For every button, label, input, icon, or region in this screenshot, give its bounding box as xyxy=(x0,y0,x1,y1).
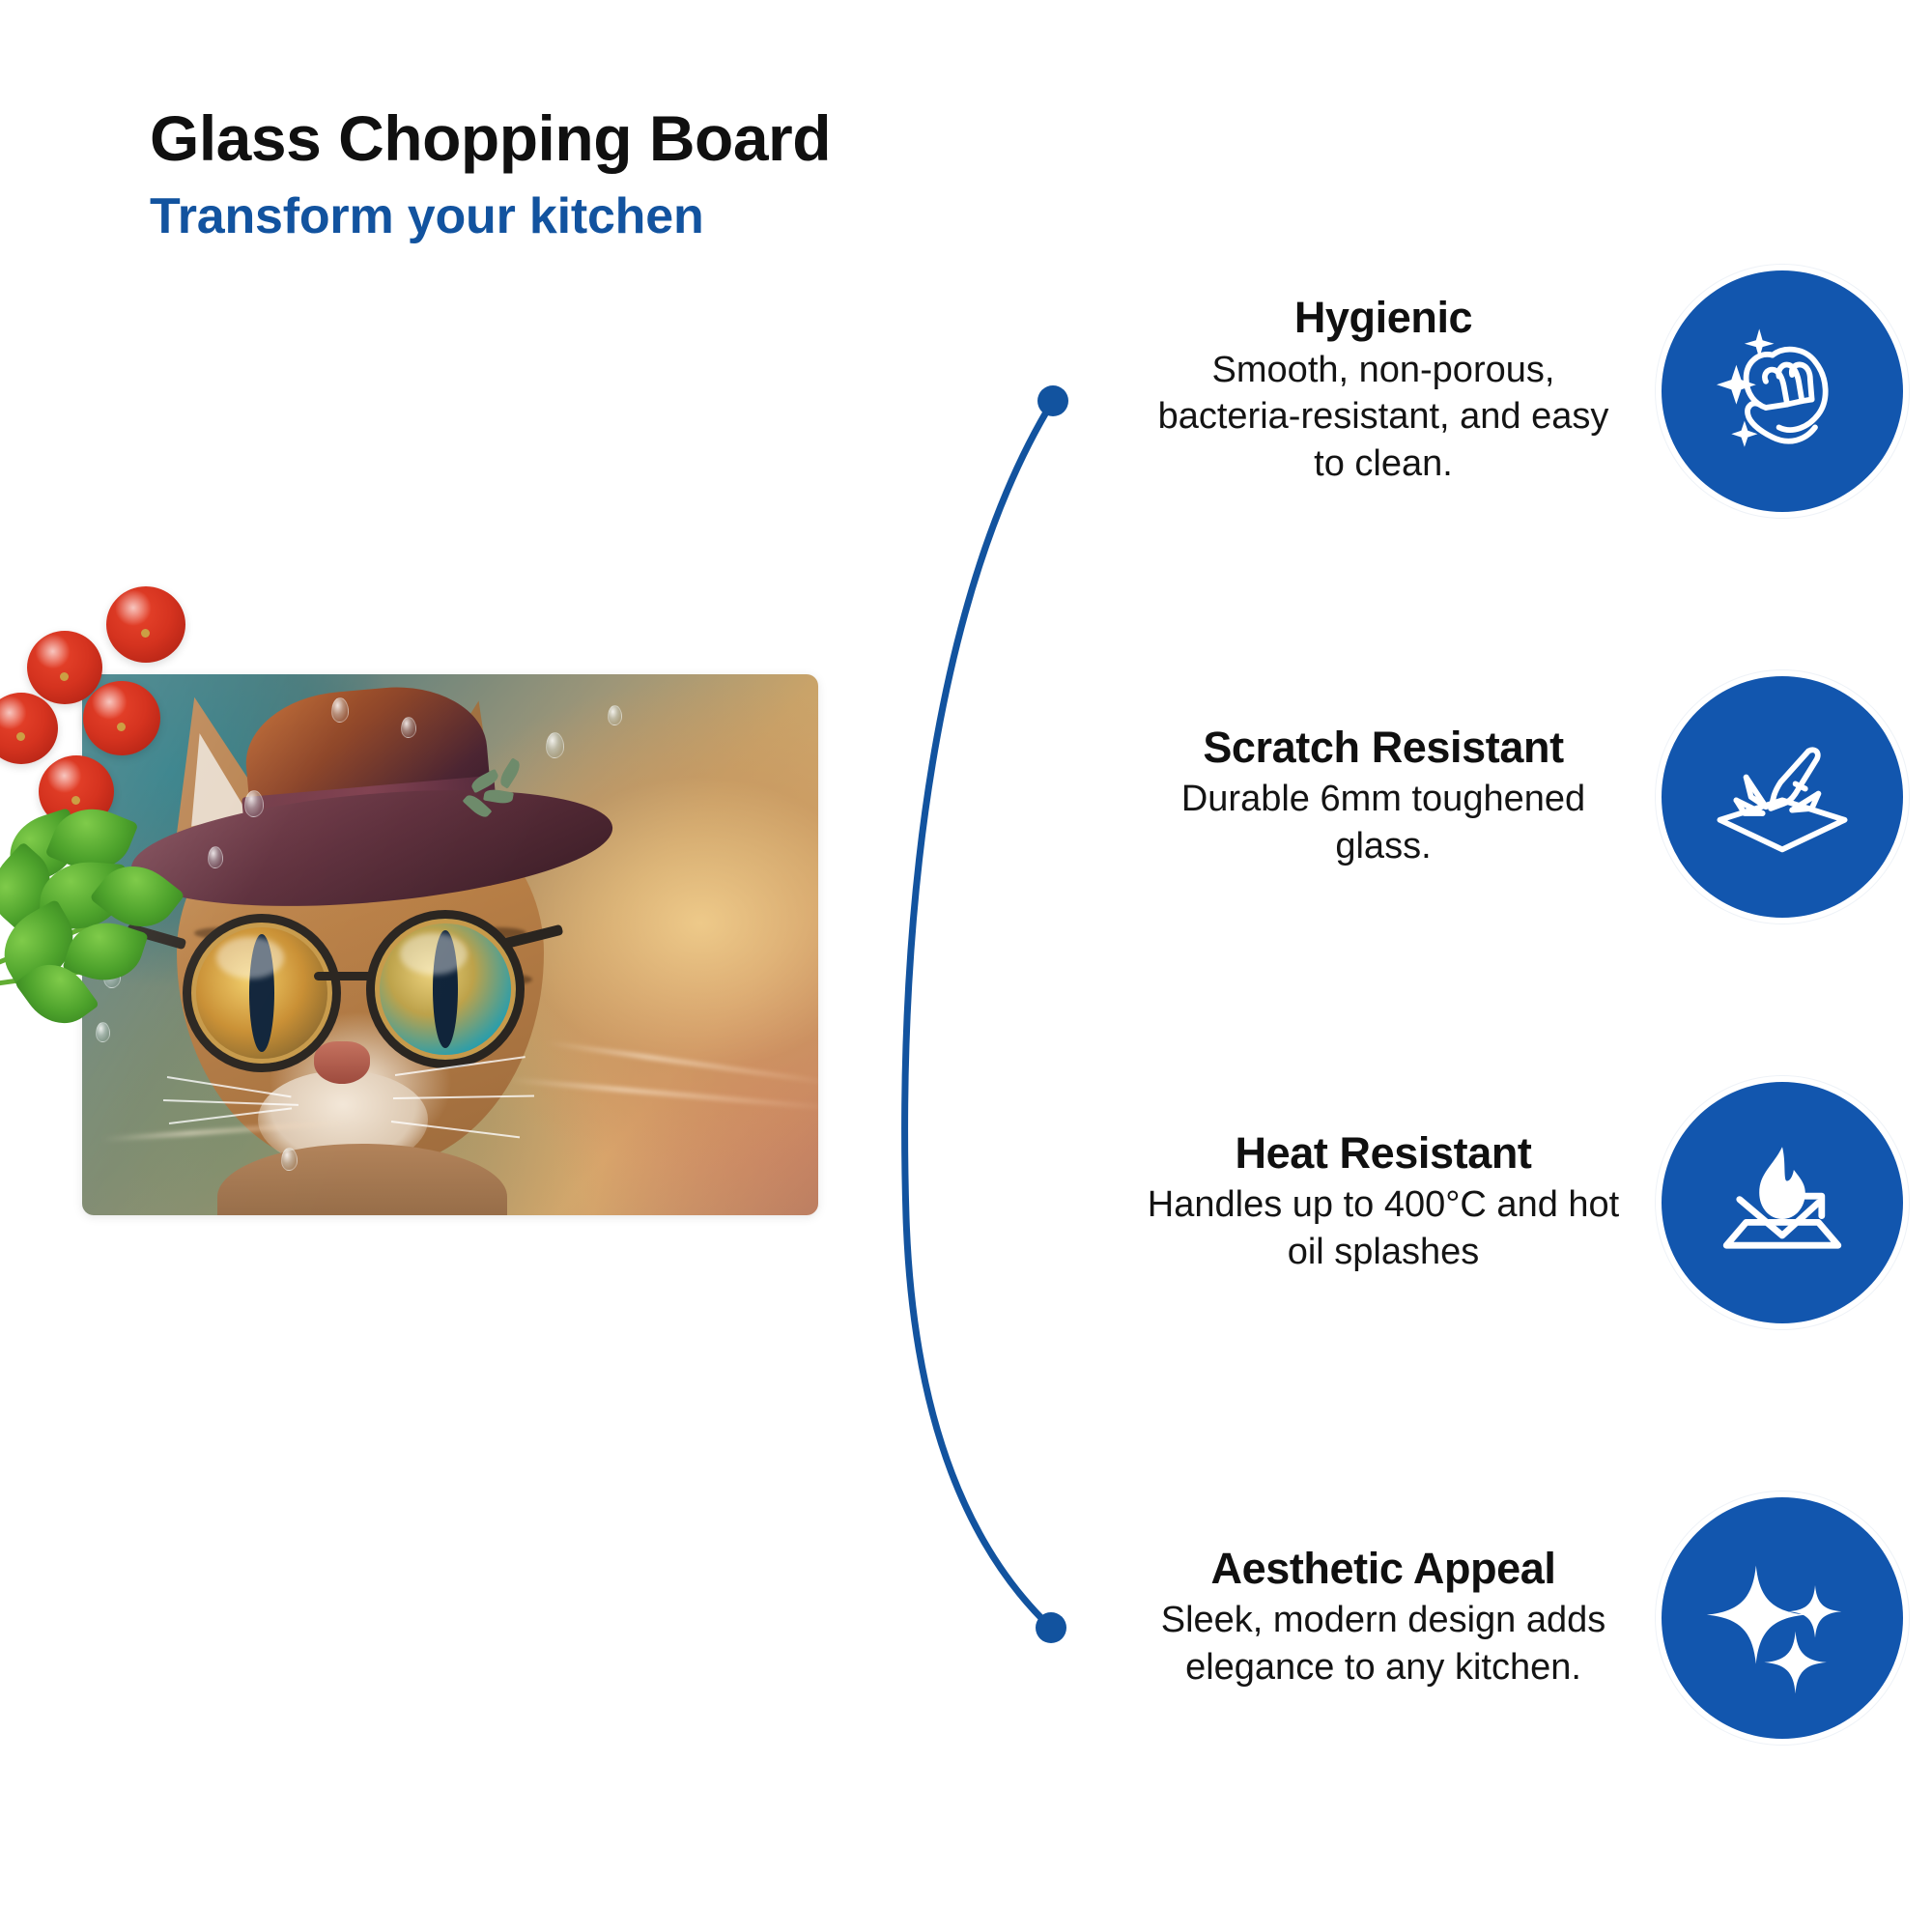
water-droplet xyxy=(96,1022,110,1042)
page-subtitle: Transform your kitchen xyxy=(150,191,1116,241)
hand-wiping-sparkle-icon[interactable] xyxy=(1662,270,1903,512)
feature-title: Aesthetic Appeal xyxy=(1142,1546,1625,1591)
feature-item-heat-resistant[interactable]: Heat Resistant Handles up to 400°C and h… xyxy=(1072,1082,1903,1323)
lens-glare xyxy=(400,933,468,976)
cat-chest xyxy=(217,1144,507,1215)
hat-foliage-leaf xyxy=(497,757,524,788)
flame-deflect-surface-icon[interactable] xyxy=(1662,1082,1903,1323)
product-image-composite xyxy=(0,599,869,1314)
feature-item-aesthetic-appeal[interactable]: Aesthetic Appeal Sleek, modern design ad… xyxy=(1072,1497,1903,1739)
feature-text-block: Hygienic Smooth, non-porous, bacteria-re… xyxy=(1142,295,1625,487)
connector-endpoint-top xyxy=(1037,385,1068,416)
feature-text-block: Heat Resistant Handles up to 400°C and h… xyxy=(1142,1130,1625,1276)
page-title: Glass Chopping Board xyxy=(150,106,1116,170)
feature-title: Heat Resistant xyxy=(1142,1130,1625,1176)
cherry-tomato xyxy=(27,631,102,704)
curved-connector-line xyxy=(792,367,1101,1681)
feature-description: Sleek, modern design adds elegance to an… xyxy=(1142,1597,1625,1690)
feature-item-scratch-resistant[interactable]: Scratch Resistant Durable 6mm toughened … xyxy=(1072,676,1903,918)
feature-description: Durable 6mm toughened glass. xyxy=(1142,776,1625,869)
feature-title: Hygienic xyxy=(1142,295,1625,340)
parsley-garnish xyxy=(0,802,213,1024)
feature-item-hygienic[interactable]: Hygienic Smooth, non-porous, bacteria-re… xyxy=(1072,270,1903,512)
lens-glare xyxy=(216,937,284,980)
connector-endpoint-bottom xyxy=(1036,1612,1066,1643)
feature-text-block: Aesthetic Appeal Sleek, modern design ad… xyxy=(1142,1546,1625,1691)
cherry-tomato xyxy=(83,681,160,755)
cat-eye-right xyxy=(366,910,525,1068)
connector-path xyxy=(905,401,1053,1628)
feature-text-block: Scratch Resistant Durable 6mm toughened … xyxy=(1142,724,1625,870)
knife-scratch-surface-icon[interactable] xyxy=(1662,676,1903,918)
feature-title: Scratch Resistant xyxy=(1142,724,1625,770)
header: Glass Chopping Board Transform your kitc… xyxy=(150,106,1116,241)
sparkles-icon[interactable] xyxy=(1662,1497,1903,1739)
feature-description: Smooth, non-porous, bacteria-resistant, … xyxy=(1142,347,1625,488)
cherry-tomato xyxy=(106,586,185,663)
glasses-bridge xyxy=(314,972,374,980)
cherry-tomato xyxy=(0,693,58,764)
feature-description: Handles up to 400°C and hot oil splashes xyxy=(1142,1181,1625,1275)
cat-nose xyxy=(314,1041,370,1084)
